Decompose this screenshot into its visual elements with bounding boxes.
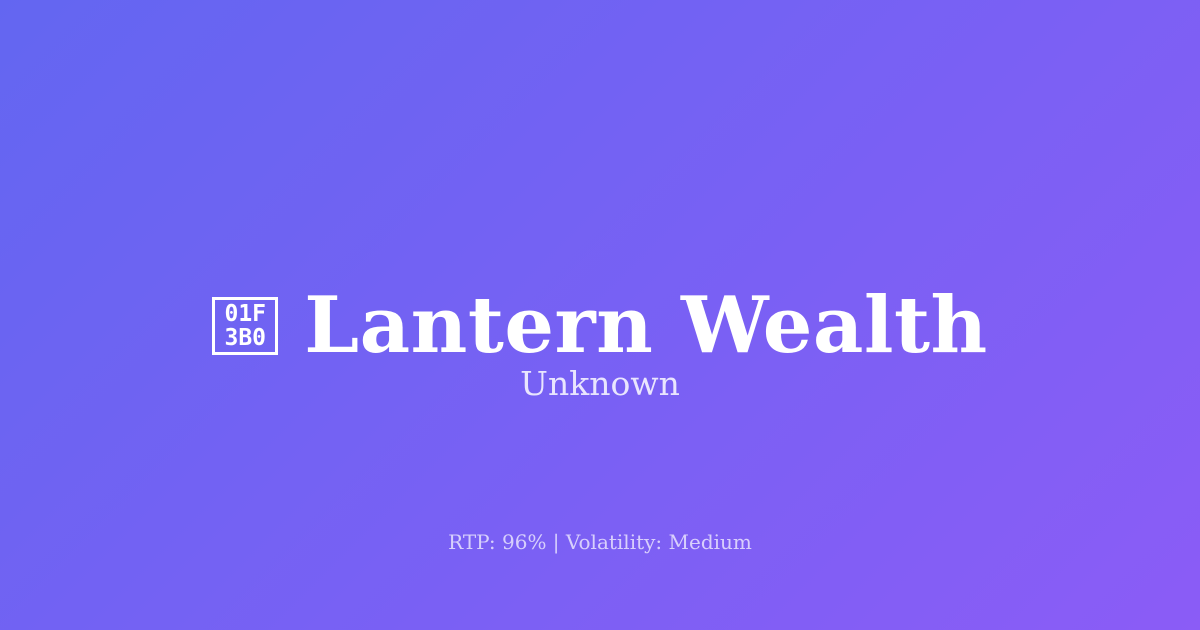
slot-machine-icon-codepoint-top: 01F (224, 302, 266, 326)
page-title: Lantern Wealth (304, 284, 987, 368)
game-preview-card: 01F 3B0 Lantern Wealth Unknown RTP: 96% … (0, 0, 1200, 630)
game-stats-line: RTP: 96% | Volatility: Medium (0, 528, 1200, 556)
provider-subtitle: Unknown (0, 362, 1200, 406)
slot-machine-icon: 01F 3B0 (212, 297, 278, 355)
slot-machine-icon-codepoint-bottom: 3B0 (224, 326, 266, 350)
